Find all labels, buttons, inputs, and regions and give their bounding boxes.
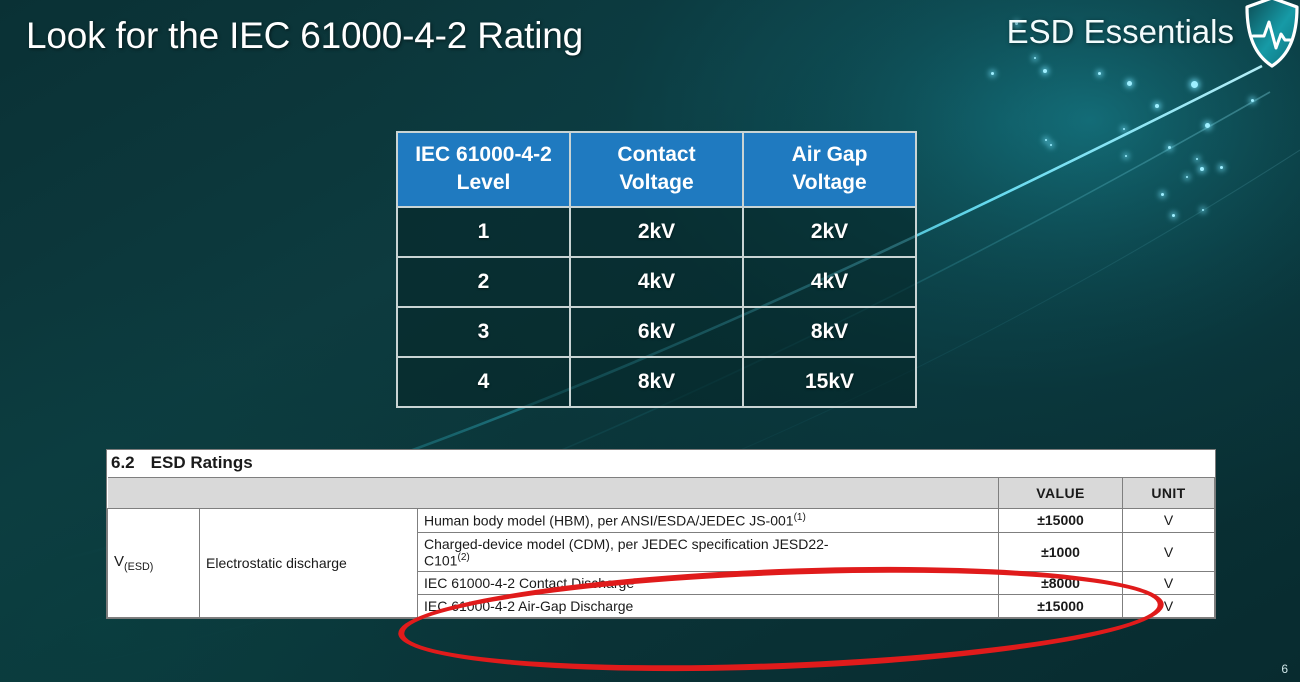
page-number: 6 xyxy=(1281,662,1288,676)
cell-value: ±15000 xyxy=(999,595,1123,618)
description-text: Human body model (HBM), per ANSI/ESDA/JE… xyxy=(424,513,794,529)
table-row: 2 4kV 4kV xyxy=(397,257,916,307)
cell-description: IEC 61000-4-2 Contact Discharge xyxy=(418,572,999,595)
cell-air-gap-voltage: 2kV xyxy=(743,207,916,257)
page-title: Look for the IEC 61000-4-2 Rating xyxy=(26,15,583,57)
cell-parameter: Electrostatic discharge xyxy=(200,509,418,618)
table-row: 4 8kV 15kV xyxy=(397,357,916,407)
cell-level: 4 xyxy=(397,357,570,407)
header-line-1: Contact xyxy=(617,143,695,166)
section-title-text: ESD Ratings xyxy=(151,453,253,472)
header-line-1: Air Gap xyxy=(792,143,868,166)
datasheet-header-row: VALUE UNIT xyxy=(108,478,1215,509)
datasheet-excerpt: 6.2ESD Ratings VALUE UNIT V(ESD) Electro… xyxy=(106,449,1216,619)
description-superscript: (1) xyxy=(794,512,806,523)
header-line-2: Voltage xyxy=(619,171,693,194)
column-header-level: IEC 61000-4-2 Level xyxy=(397,132,570,207)
cell-unit: V xyxy=(1123,509,1215,533)
header-line-1: IEC 61000-4-2 xyxy=(415,143,552,166)
cell-contact-voltage: 2kV xyxy=(570,207,743,257)
column-header-contact-voltage: Contact Voltage xyxy=(570,132,743,207)
cell-value: ±15000 xyxy=(999,509,1123,533)
cell-value: ±8000 xyxy=(999,572,1123,595)
cell-symbol: V(ESD) xyxy=(108,509,200,618)
cell-contact-voltage: 4kV xyxy=(570,257,743,307)
cell-air-gap-voltage: 8kV xyxy=(743,307,916,357)
column-header-value: VALUE xyxy=(999,478,1123,509)
table-row: 1 2kV 2kV xyxy=(397,207,916,257)
cell-level: 1 xyxy=(397,207,570,257)
header-line-2: Voltage xyxy=(792,171,866,194)
shield-pulse-icon xyxy=(1244,0,1300,70)
cell-value: ±1000 xyxy=(999,532,1123,572)
cell-level: 3 xyxy=(397,307,570,357)
header-line-2: Level xyxy=(457,171,511,194)
datasheet-section-title: 6.2ESD Ratings xyxy=(107,450,1215,477)
section-number: 6.2 xyxy=(111,453,135,472)
cell-description: Human body model (HBM), per ANSI/ESDA/JE… xyxy=(418,509,999,533)
cell-description: IEC 61000-4-2 Air-Gap Discharge xyxy=(418,595,999,618)
cell-unit: V xyxy=(1123,595,1215,618)
esd-ratings-table: VALUE UNIT V(ESD) Electrostatic discharg… xyxy=(107,477,1215,618)
cell-description: Charged-device model (CDM), per JEDEC sp… xyxy=(418,532,999,572)
table-row: V(ESD) Electrostatic discharge Human bod… xyxy=(108,509,1215,533)
column-header-air-gap-voltage: Air Gap Voltage xyxy=(743,132,916,207)
description-line2: C101 xyxy=(424,552,457,568)
description-text: Charged-device model (CDM), per JEDEC sp… xyxy=(424,536,829,552)
symbol-text: V xyxy=(114,553,124,570)
cell-unit: V xyxy=(1123,532,1215,572)
slide-canvas: Look for the IEC 61000-4-2 Rating ESD Es… xyxy=(0,0,1300,682)
description-superscript: (2) xyxy=(457,552,469,563)
cell-air-gap-voltage: 15kV xyxy=(743,357,916,407)
cell-contact-voltage: 8kV xyxy=(570,357,743,407)
column-header-blank xyxy=(108,478,999,509)
table-header-row: IEC 61000-4-2 Level Contact Voltage Air … xyxy=(397,132,916,207)
cell-air-gap-voltage: 4kV xyxy=(743,257,916,307)
cell-unit: V xyxy=(1123,572,1215,595)
cell-level: 2 xyxy=(397,257,570,307)
symbol-subscript: (ESD) xyxy=(124,561,153,573)
iec-level-table: IEC 61000-4-2 Level Contact Voltage Air … xyxy=(396,131,917,408)
brand-name: ESD Essentials xyxy=(1007,13,1234,51)
column-header-unit: UNIT xyxy=(1123,478,1215,509)
cell-contact-voltage: 6kV xyxy=(570,307,743,357)
table-row: 3 6kV 8kV xyxy=(397,307,916,357)
